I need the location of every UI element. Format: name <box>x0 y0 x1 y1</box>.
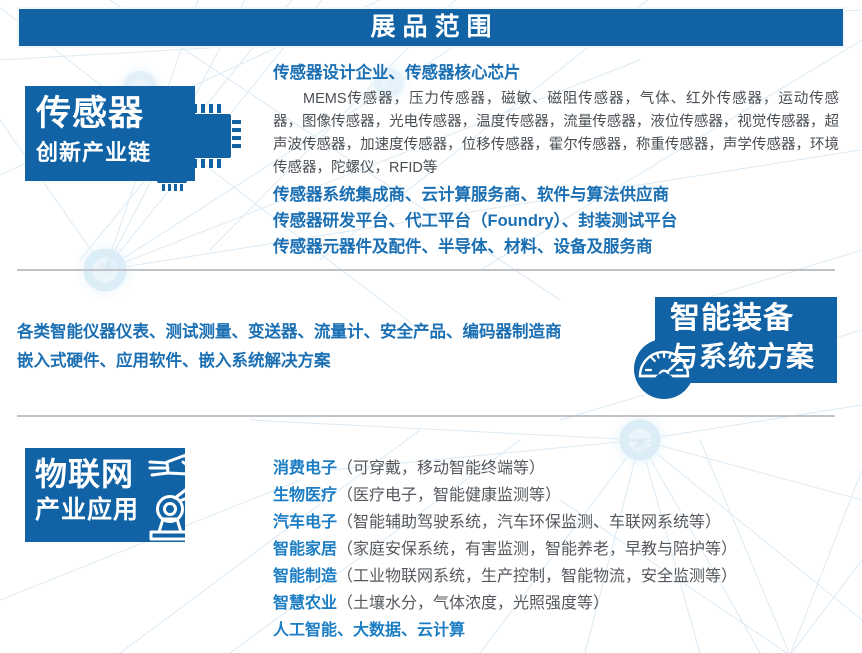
badge-iot-sub-label: 产业应用 <box>35 498 139 523</box>
iot-item-description: （土壤水分，气体浓度，光照强度等） <box>337 595 609 612</box>
iot-list-item: 生物医疗（医疗电子，智能健康监测等） <box>273 482 833 509</box>
iot-item-key: 智慧农业 <box>273 595 337 612</box>
iot-item-key: 人工智能、大数据、云计算 <box>273 622 465 639</box>
equipment-heading-1: 各类智能仪器仪表、测试测量、变送器、流量计、安全产品、编码器制造商 <box>17 318 617 347</box>
iot-item-description: （医疗电子，智能健康监测等） <box>337 487 561 504</box>
iot-item-key: 智能制造 <box>273 568 337 585</box>
badge-equipment-main-label: 智能装备 <box>670 304 794 334</box>
sensor-paragraph: MEMS传感器，压力传感器，磁敏、磁阻传感器，气体、红外传感器，运动传感器，图像… <box>273 88 839 180</box>
badge-equipment-sub-label: 与系统方案 <box>670 343 815 371</box>
sensor-heading-1: 传感器设计企业、传感器核心芯片 <box>273 60 839 86</box>
iot-item-description: （工业物联网系统，生产控制，智能物流，安全监测等） <box>337 568 737 585</box>
section-divider-2 <box>17 415 835 417</box>
equipment-section-content: 各类智能仪器仪表、测试测量、变送器、流量计、安全产品、编码器制造商 嵌入式硬件、… <box>17 318 617 376</box>
iot-list-item: 汽车电子（智能辅助驾驶系统，汽车环保监测、车联网系统等） <box>273 509 833 536</box>
iot-item-key: 生物医疗 <box>273 487 337 504</box>
iot-section-content: 消费电子（可穿戴，移动智能终端等）生物医疗（医疗电子，智能健康监测等）汽车电子（… <box>273 455 833 644</box>
badge-sensor-main-label: 传感器 <box>36 96 144 131</box>
iot-item-description: （可穿戴，移动智能终端等） <box>337 460 545 477</box>
sensor-heading-3: 传感器研发平台、代工平台（Foundry）、封装测试平台 <box>273 208 839 234</box>
iot-list-item: 智能制造（工业物联网系统，生产控制，智能物流，安全监测等） <box>273 563 833 590</box>
exhibit-scope-poster: 展品范围 <box>0 0 862 653</box>
iot-list-item: 消费电子（可穿戴，移动智能终端等） <box>273 455 833 482</box>
iot-item-key: 消费电子 <box>273 460 337 477</box>
sensor-heading-2: 传感器系统集成商、云计算服务商、软件与算法供应商 <box>273 182 839 208</box>
sensor-heading-4: 传感器元器件及配件、半导体、材料、设备及服务商 <box>273 234 839 260</box>
iot-item-description: （家庭安保系统，有害监测，智能养老，早教与陪护等） <box>337 541 737 558</box>
iot-list-item: 智慧农业（土壤水分，气体浓度，光照强度等） <box>273 590 833 617</box>
page-title-bar: 展品范围 <box>17 7 845 48</box>
iot-item-description: （智能辅助驾驶系统，汽车环保监测、车联网系统等） <box>337 514 721 531</box>
iot-list-item: 智能家居（家庭安保系统，有害监测，智能养老，早教与陪护等） <box>273 536 833 563</box>
badge-sensor-sub-label: 创新产业链 <box>36 142 151 164</box>
badge-iot-main-label: 物联网 <box>35 458 134 490</box>
sensor-section-content: 传感器设计企业、传感器核心芯片 MEMS传感器，压力传感器，磁敏、磁阻传感器，气… <box>273 60 839 260</box>
equipment-heading-2: 嵌入式硬件、应用软件、嵌入系统解决方案 <box>17 347 617 376</box>
iot-list-item: 人工智能、大数据、云计算 <box>273 617 833 644</box>
iot-item-key: 智能家居 <box>273 541 337 558</box>
iot-item-key: 汽车电子 <box>273 514 337 531</box>
section-divider-1 <box>17 269 835 271</box>
page-title: 展品范围 <box>363 15 498 40</box>
